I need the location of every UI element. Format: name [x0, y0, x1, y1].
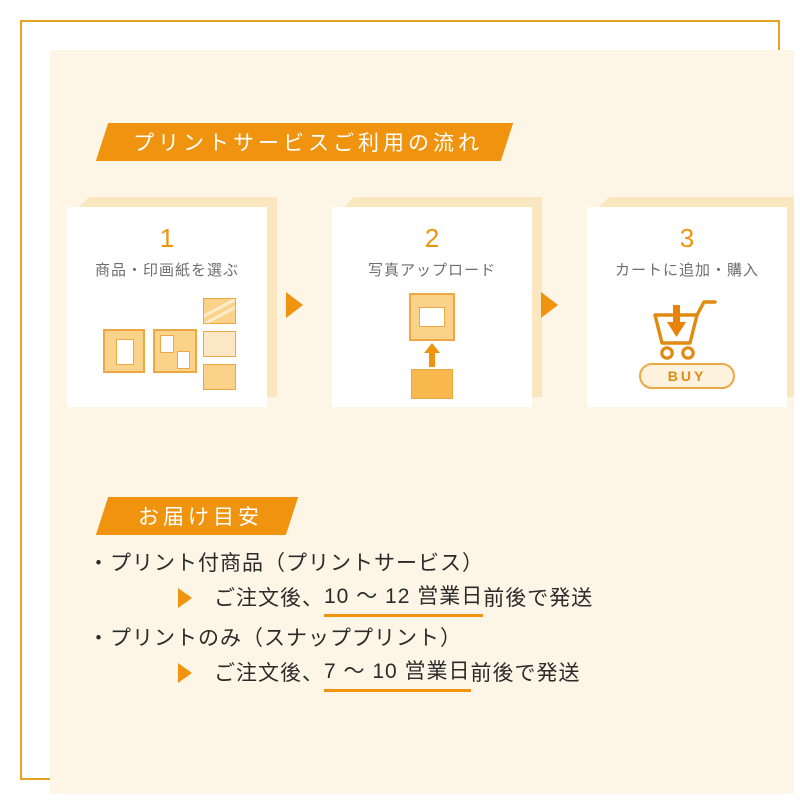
source-photo-icon — [411, 369, 453, 399]
upload-arrow-stem — [429, 351, 435, 367]
step-arrow-icon-2 — [541, 292, 558, 318]
plain-paper-icon — [203, 364, 236, 390]
photo-upload-icon — [332, 293, 532, 403]
delivery-item-heading: ・プリントのみ（スナッププリント） — [88, 623, 768, 655]
flow-section-banner: プリントサービスご利用の流れ — [96, 123, 513, 161]
delivery-detail-lead: ご注文後、 — [214, 657, 324, 691]
shopping-cart-icon — [587, 289, 787, 369]
step-card-3[interactable]: 3 カートに追加・購入 — [587, 197, 787, 397]
content-canvas: プリントサービスご利用の流れ 1 商品・印画紙を選ぶ — [50, 50, 794, 794]
delivery-detail-lead: ご注文後、 — [214, 582, 324, 616]
cart-down-arrow-icon — [667, 305, 686, 337]
step-arrow-icon-1 — [286, 292, 303, 318]
flow-banner-label: プリントサービスご利用の流れ — [127, 127, 483, 157]
matte-paper-icon — [203, 331, 236, 357]
delivery-item-detail: ご注文後、 10 〜 12 営業日 前後で発送 — [88, 580, 768, 618]
decorative-outer-frame: プリントサービスご利用の流れ 1 商品・印画紙を選ぶ — [20, 20, 780, 780]
step-number: 2 — [332, 223, 532, 254]
upload-frame-window — [419, 307, 445, 327]
triangle-bullet-icon — [178, 588, 192, 608]
page-root: プリントサービスご利用の流れ 1 商品・印画紙を選ぶ — [0, 0, 800, 800]
delivery-banner-label: お届け目安 — [132, 501, 263, 531]
delivery-estimate-list: ・プリント付商品（プリントサービス） ご注文後、 10 〜 12 営業日 前後で… — [88, 548, 768, 698]
step-card-surface: 1 商品・印画紙を選ぶ — [67, 207, 267, 407]
delivery-detail-tail: 前後で発送 — [471, 657, 581, 691]
step-label: カートに追加・購入 — [587, 259, 787, 280]
delivery-detail-highlight: 7 〜 10 営業日 — [324, 655, 471, 693]
step-label: 写真アップロード — [332, 259, 532, 280]
frames-and-photo-paper-icon — [67, 293, 267, 403]
delivery-item: ・プリントのみ（スナッププリント） ご注文後、 7 〜 10 営業日 前後で発送 — [88, 623, 768, 692]
delivery-detail-highlight: 10 〜 12 営業日 — [324, 580, 483, 618]
buy-button-label: BUY — [668, 368, 707, 384]
step-card-surface: 3 カートに追加・購入 — [587, 207, 787, 407]
delivery-detail-tail: 前後で発送 — [483, 582, 593, 616]
buy-button[interactable]: BUY — [639, 363, 735, 389]
step-card-2[interactable]: 2 写真アップロード — [332, 197, 532, 397]
triangle-bullet-icon — [178, 663, 192, 683]
delivery-item: ・プリント付商品（プリントサービス） ご注文後、 10 〜 12 営業日 前後で… — [88, 548, 768, 617]
frame-window-1 — [160, 335, 174, 353]
frame-mat-icon — [116, 339, 134, 365]
step-card-1[interactable]: 1 商品・印画紙を選ぶ — [67, 197, 267, 397]
frame-window-2 — [177, 351, 190, 369]
delivery-section-banner: お届け目安 — [96, 497, 298, 535]
steps-row: 1 商品・印画紙を選ぶ — [50, 197, 794, 412]
cart-art-wrapper: BUY — [587, 293, 787, 403]
multi-window-frame-icon — [153, 329, 197, 373]
glossy-paper-icon — [203, 298, 236, 324]
step-number: 1 — [67, 223, 267, 254]
step-number: 3 — [587, 223, 787, 254]
delivery-item-detail: ご注文後、 7 〜 10 営業日 前後で発送 — [88, 655, 768, 693]
delivery-item-heading: ・プリント付商品（プリントサービス） — [88, 548, 768, 580]
step-card-surface: 2 写真アップロード — [332, 207, 532, 407]
picture-frame-icon — [103, 329, 145, 373]
upload-target-frame-icon — [409, 293, 455, 341]
step-label: 商品・印画紙を選ぶ — [67, 259, 267, 280]
